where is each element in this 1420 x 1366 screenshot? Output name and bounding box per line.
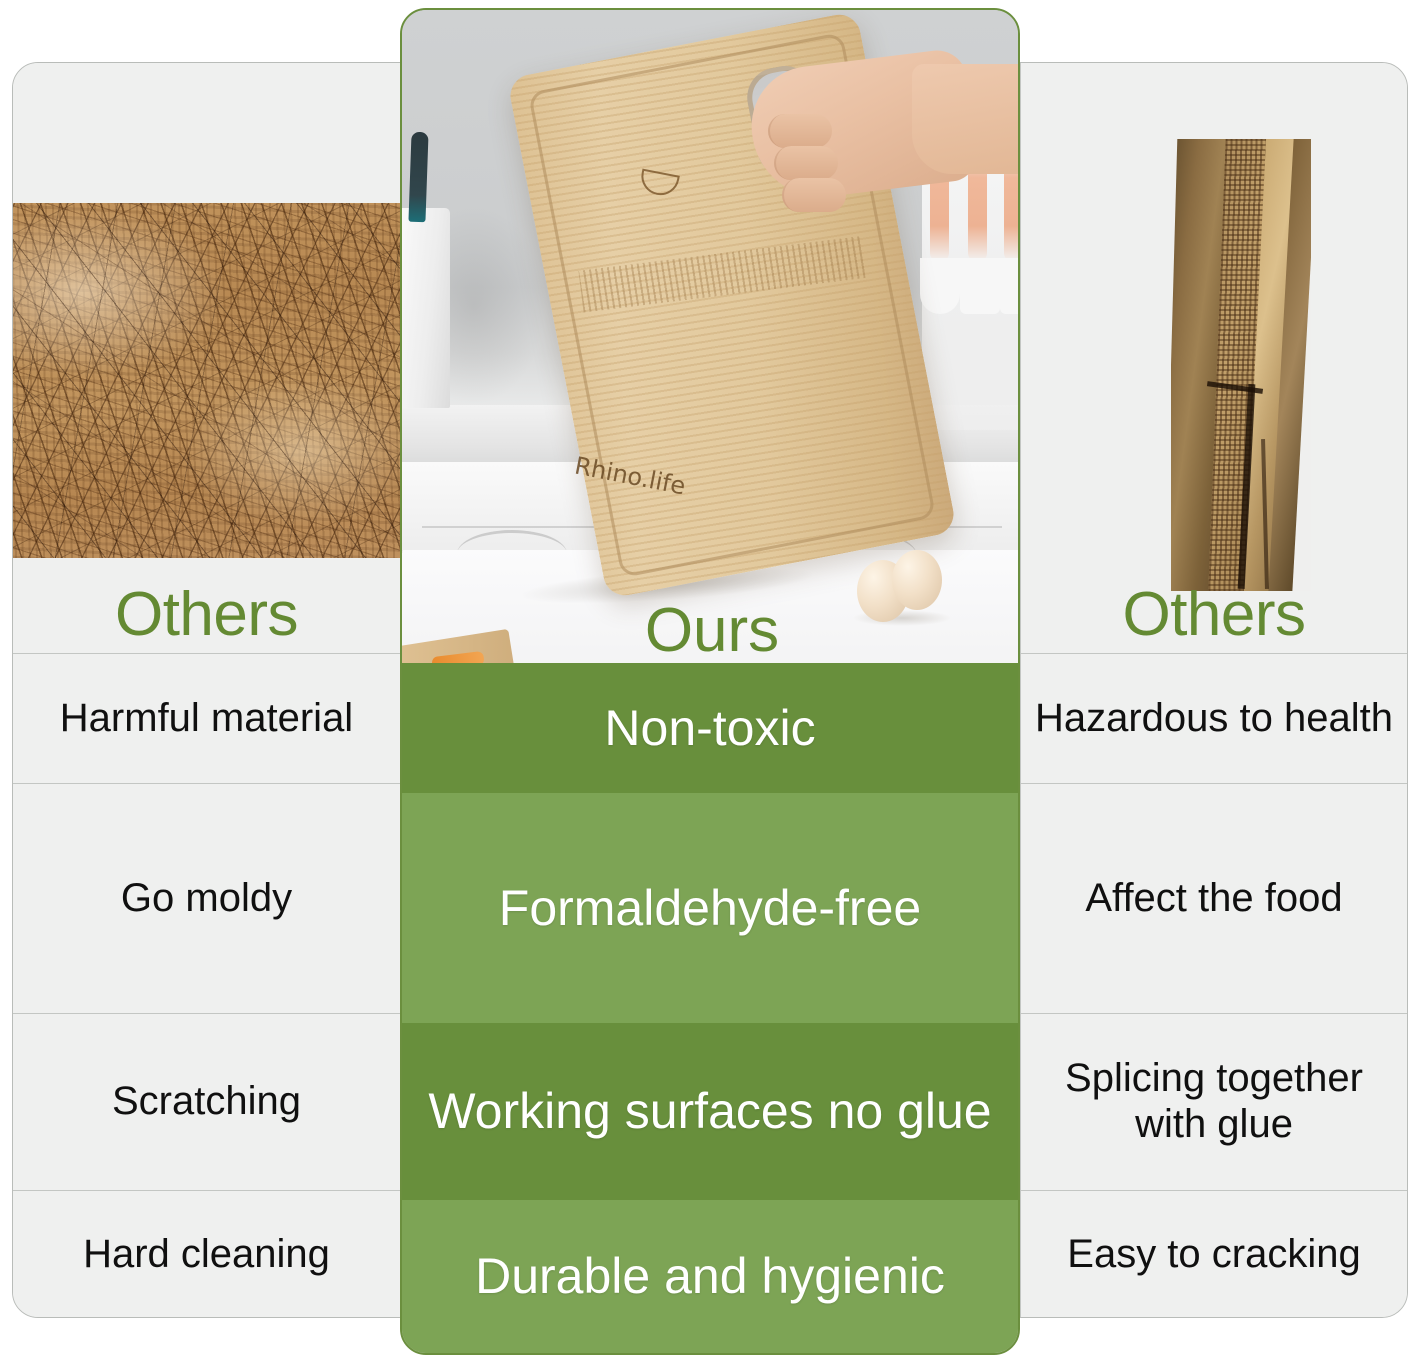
cell-right-1: Affect the food bbox=[1085, 876, 1342, 922]
header-cell-others-left: Others bbox=[13, 63, 401, 654]
finger-2 bbox=[774, 146, 838, 180]
knife-handle bbox=[408, 132, 428, 223]
cell-right-0: Hazardous to health bbox=[1035, 696, 1393, 742]
header-label-ours: Ours bbox=[645, 596, 779, 665]
cell-left-3: Hard cleaning bbox=[83, 1232, 330, 1278]
cell-center-0: Non-toxic bbox=[604, 702, 815, 755]
header-cell-others-right: Others bbox=[1021, 63, 1407, 654]
finger-1 bbox=[768, 114, 832, 148]
right-image-container bbox=[1021, 63, 1407, 653]
ours-row-2: Working surfaces no glue bbox=[402, 1023, 1018, 1200]
utensil-fork-head bbox=[1000, 258, 1020, 314]
cell-right-2: Splicing together with glue bbox=[1031, 1056, 1397, 1147]
table-row: Scratching bbox=[13, 1014, 401, 1191]
ours-highlight-panel: Rhino.life Ours Non-toxic Formaldehyde-f… bbox=[400, 8, 1020, 1355]
scratched-board-image bbox=[13, 203, 401, 558]
left-image-container bbox=[13, 63, 400, 653]
utensil-spoon-head bbox=[920, 258, 960, 314]
ours-row-0: Non-toxic bbox=[402, 663, 1018, 793]
left-header-label-wrap: Others bbox=[13, 582, 400, 647]
table-row: Hazardous to health bbox=[1021, 654, 1407, 784]
ours-label-wrap: Ours bbox=[402, 600, 1020, 662]
table-row: Affect the food bbox=[1021, 784, 1407, 1014]
header-label-others-right: Others bbox=[1122, 580, 1305, 649]
cell-left-0: Harmful material bbox=[60, 696, 353, 742]
table-row: Splicing together with glue bbox=[1021, 1014, 1407, 1191]
wrist bbox=[912, 64, 1020, 174]
cell-left-2: Scratching bbox=[112, 1079, 301, 1125]
ours-row-1: Formaldehyde-free bbox=[402, 793, 1018, 1023]
product-photo: Rhino.life Ours bbox=[402, 10, 1020, 670]
cell-left-1: Go moldy bbox=[121, 876, 292, 922]
cracked-bamboo-image bbox=[1171, 139, 1311, 591]
ours-feature-rows: Non-toxic Formaldehyde-free Working surf… bbox=[402, 663, 1018, 1353]
table-row: Hard cleaning bbox=[13, 1191, 401, 1318]
ours-row-3: Durable and hygienic bbox=[402, 1200, 1018, 1353]
cell-center-2: Working surfaces no glue bbox=[428, 1085, 991, 1138]
cell-right-3: Easy to cracking bbox=[1067, 1232, 1360, 1278]
header-label-others-left: Others bbox=[115, 580, 298, 649]
right-header-label-wrap: Others bbox=[1021, 582, 1407, 647]
table-row: Harmful material bbox=[13, 654, 401, 784]
table-row: Easy to cracking bbox=[1021, 1191, 1407, 1318]
cell-center-1: Formaldehyde-free bbox=[499, 882, 921, 935]
table-row: Go moldy bbox=[13, 784, 401, 1014]
knife-block bbox=[402, 208, 450, 408]
finger-3 bbox=[782, 178, 846, 212]
utensil-slotted-head bbox=[960, 258, 1000, 314]
cell-center-3: Durable and hygienic bbox=[475, 1250, 945, 1303]
